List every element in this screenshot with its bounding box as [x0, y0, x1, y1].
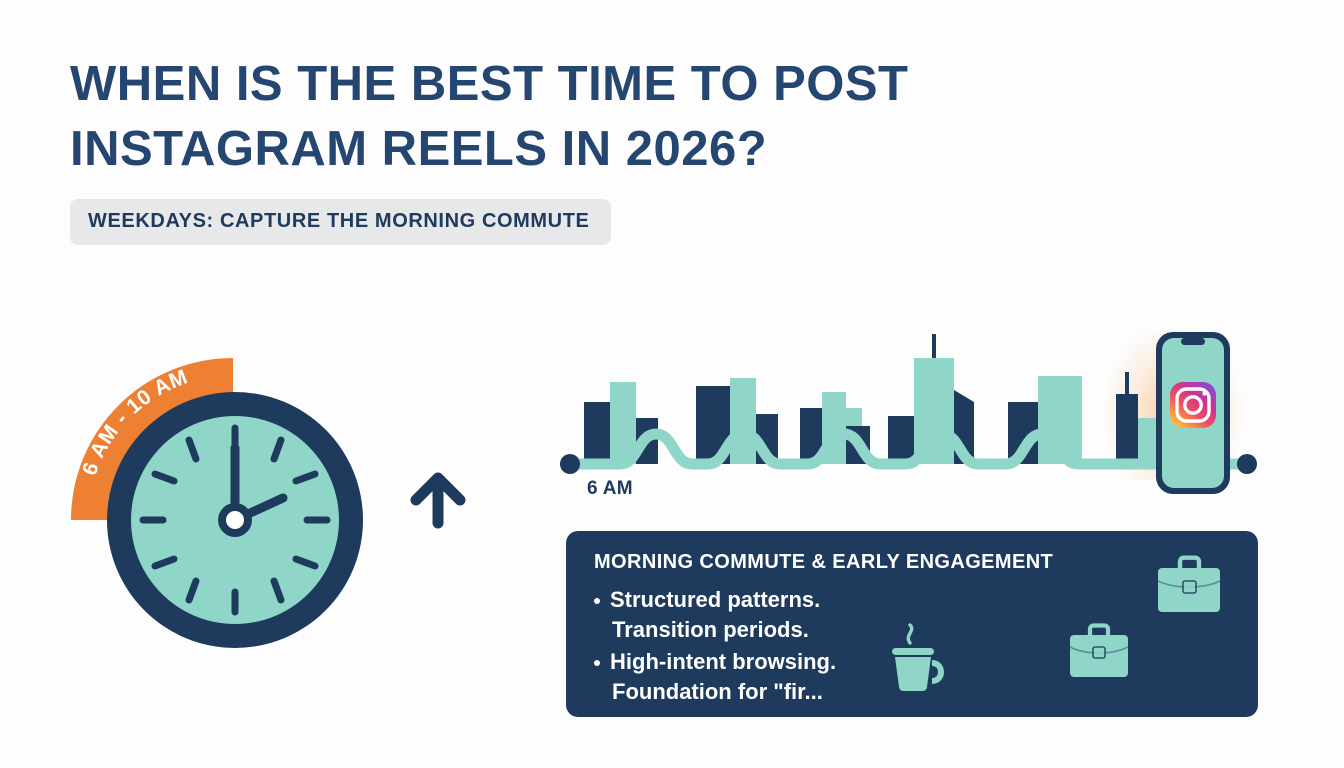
briefcase-icon: [1154, 555, 1224, 622]
bullet-line-1: Structured patterns.: [610, 587, 820, 612]
briefcase-icon: [1066, 623, 1132, 686]
clock-hub-inner: [226, 511, 244, 529]
page-title-line-2: Instagram Reels in 2026?: [70, 117, 1070, 182]
building-group-1: [584, 382, 658, 464]
timeline-start-label: 6 AM: [587, 478, 633, 500]
page-title-line-1: When is the best time to post: [70, 57, 908, 111]
clock-illustration: 6 AM - 10 AM: [55, 320, 400, 665]
phone-notch: [1181, 338, 1205, 345]
instagram-icon[interactable]: [1170, 382, 1216, 428]
arrow-up-icon: [408, 468, 468, 535]
info-card: Morning Commute & Early Engagement Struc…: [566, 531, 1258, 717]
phone-mockup[interactable]: [1136, 324, 1266, 504]
clock-icon: 6 AM - 10 AM: [55, 320, 400, 665]
page-title: When is the best time to post Instagram …: [70, 52, 1070, 181]
info-card-title: Morning Commute & Early Engagement: [594, 551, 1053, 574]
coffee-mug-icon: [888, 621, 950, 698]
bullet-line-1: High-intent browsing.: [610, 649, 836, 674]
subtitle-badge: Weekdays: Capture the morning commute: [70, 199, 611, 245]
timeline-start-dot: [560, 454, 580, 474]
